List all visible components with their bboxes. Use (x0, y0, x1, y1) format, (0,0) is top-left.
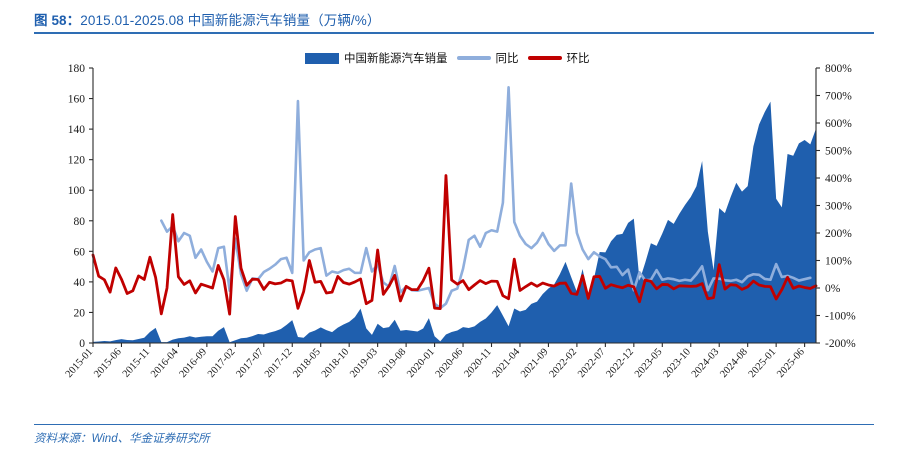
x-axis-label: 2020-06 (434, 347, 466, 380)
y-axis-label-right: 800% (825, 63, 852, 75)
y-axis-label-right: 100% (825, 256, 852, 268)
y-axis-label-left: 20 (74, 307, 86, 319)
x-axis-label: 2015-06 (92, 347, 124, 380)
x-axis-label: 2023-05 (633, 347, 665, 380)
chart-plot-area: 020406080100120140160180-200%-100%0%100%… (0, 0, 907, 456)
y-axis-label-left: 140 (68, 124, 86, 136)
y-axis-label-left: 180 (68, 63, 86, 75)
x-axis-label: 2016-09 (178, 347, 210, 380)
x-axis-label: 2023-10 (661, 347, 693, 380)
x-axis-label: 2015-11 (121, 347, 152, 380)
x-axis-label: 2018-10 (320, 347, 352, 380)
y-axis-label-right: 200% (825, 228, 852, 240)
x-axis-label: 2021-04 (491, 346, 523, 380)
y-axis-label-right: 600% (825, 118, 852, 130)
chart-svg: 020406080100120140160180-200%-100%0%100%… (0, 0, 907, 456)
x-axis-label: 2019-08 (377, 347, 409, 380)
figure-container: 图 58：2015.01-2025.08 中国新能源汽车销量（万辆/%） 中国新… (0, 0, 907, 456)
x-axis-label: 2022-02 (548, 347, 580, 380)
y-axis-label-right: -100% (825, 311, 856, 323)
x-axis-label: 2024-08 (718, 347, 750, 380)
footer-divider (34, 424, 874, 425)
y-axis-label-right: 400% (825, 173, 852, 185)
y-axis-label-left: 80 (74, 216, 86, 228)
y-axis-label-right: 300% (825, 201, 852, 213)
y-axis-label-right: -200% (825, 338, 856, 350)
x-axis-label: 2020-11 (462, 347, 493, 380)
x-axis-label: 2021-09 (519, 347, 551, 380)
x-axis-label: 2019-03 (348, 347, 380, 380)
x-axis-label: 2022-07 (576, 347, 608, 380)
x-axis-label: 2017-02 (206, 347, 238, 380)
y-axis-label-left: 160 (68, 94, 86, 106)
x-axis-label: 2025-01 (747, 347, 779, 380)
y-axis-label-right: 500% (825, 146, 852, 158)
series-area-sales (93, 102, 816, 343)
y-axis-label-left: 100 (68, 185, 86, 197)
x-axis-label: 2017-07 (234, 347, 266, 380)
y-axis-label-left: 120 (68, 155, 86, 167)
y-axis-label-left: 60 (74, 246, 86, 258)
x-axis-label: 2020-01 (405, 347, 437, 380)
y-axis-label-left: 40 (74, 277, 86, 289)
source-note: 资料来源：Wind、华金证券研究所 (34, 430, 534, 448)
x-axis-label: 2018-05 (291, 347, 323, 380)
x-axis-label: 2024-03 (690, 347, 722, 380)
y-axis-label-right: 700% (825, 91, 852, 103)
y-axis-label-right: 0% (825, 283, 841, 295)
x-axis-label: 2015-01 (64, 347, 96, 380)
x-axis-label: 2025-06 (775, 347, 807, 380)
x-axis-label: 2016-04 (149, 346, 181, 380)
x-axis-label: 2017-12 (263, 347, 295, 380)
x-axis-label: 2022-12 (604, 347, 636, 380)
